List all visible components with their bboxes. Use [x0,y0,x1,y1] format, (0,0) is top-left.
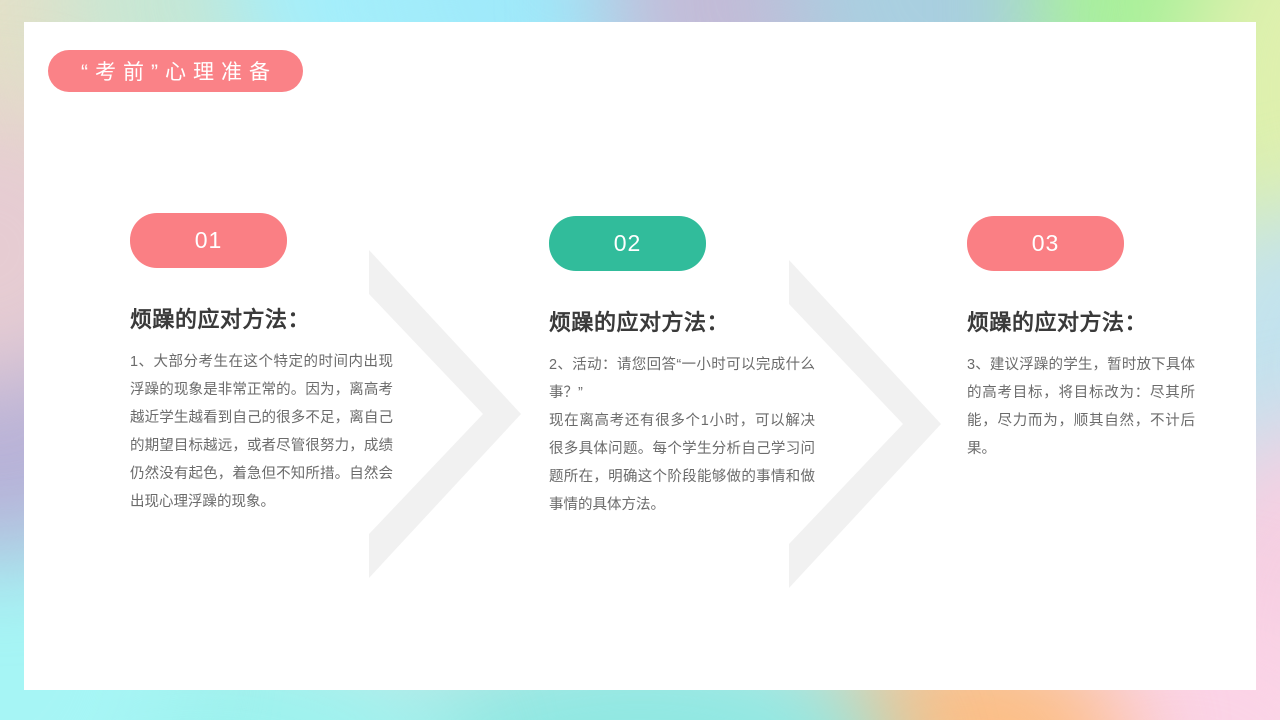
column-body-2: 2、活动：请您回答“一小时可以完成什么事？” 现在离高考还有很多个1小时，可以解… [549,351,815,519]
column-heading-1: 烦躁的应对方法： [130,302,430,334]
column-body-1: 1、大部分考生在这个特定的时间内出现浮躁的现象是非常正常的。因为，离高考越近学生… [130,348,393,516]
column-body-3: 3、建议浮躁的学生，暂时放下具体的高考目标，将目标改为：尽其所能，尽力而为，顺其… [967,351,1195,463]
step-number-badge-02: 02 [549,216,706,271]
content-column-2: 02 烦躁的应对方法： 2、活动：请您回答“一小时可以完成什么事？” 现在离高考… [549,216,849,519]
step-number-badge-03: 03 [967,216,1124,271]
page-title: “考前”心理准备 [74,56,277,86]
column-heading-3: 烦躁的应对方法： [967,305,1267,337]
slide-title-pill: “考前”心理准备 [48,50,303,92]
content-column-1: 01 烦躁的应对方法： 1、大部分考生在这个特定的时间内出现浮躁的现象是非常正常… [130,213,430,516]
content-column-3: 03 烦躁的应对方法： 3、建议浮躁的学生，暂时放下具体的高考目标，将目标改为：… [967,216,1267,463]
step-number-badge-01: 01 [130,213,287,268]
column-heading-2: 烦躁的应对方法： [549,305,849,337]
slide-card: “考前”心理准备 01 烦躁的应对方法： 1、大部分考生在这个特定的时间内出现浮… [24,22,1256,690]
